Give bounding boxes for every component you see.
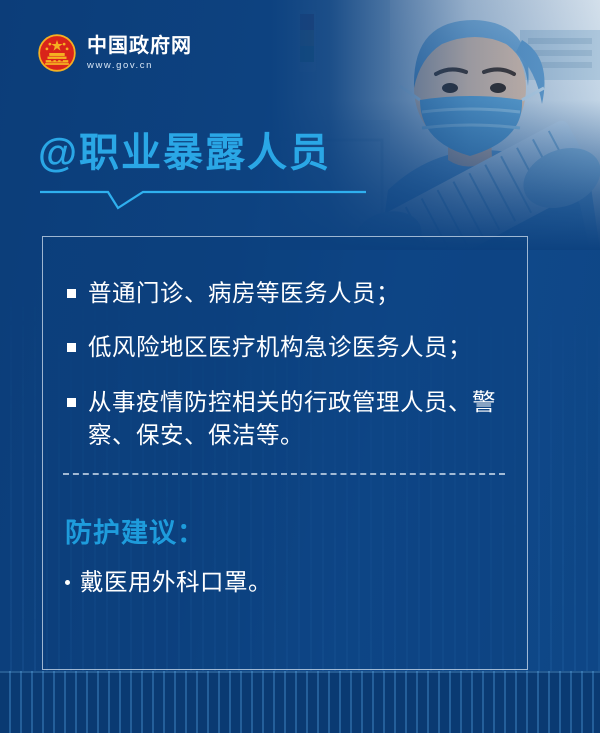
content-card: 普通门诊、病房等医务人员； 低风险地区医疗机构急诊医务人员； 从事疫情防控相关的… xyxy=(42,236,528,670)
advice-list: 戴医用外科口罩。 xyxy=(43,550,527,599)
china-national-emblem-icon xyxy=(38,34,76,72)
list-item: 低风险地区医疗机构急诊医务人员； xyxy=(67,331,501,364)
site-logo[interactable]: 中国政府网 www.gov.cn xyxy=(38,34,192,72)
title-underline-notch-icon xyxy=(38,184,368,212)
advice-heading: 防护建议： xyxy=(43,475,527,550)
exposure-group-list: 普通门诊、病房等医务人员； 低风险地区医疗机构急诊医务人员； 从事疫情防控相关的… xyxy=(43,237,527,452)
site-url: www.gov.cn xyxy=(87,61,192,71)
dot-bullet-icon xyxy=(65,580,70,585)
poster-root: 中国政府网 www.gov.cn @职业暴露人员 普通门诊、病房等医务人员； 低… xyxy=(0,0,600,733)
square-bullet-icon xyxy=(67,343,76,352)
logo-text-block: 中国政府网 www.gov.cn xyxy=(87,36,192,71)
square-bullet-icon xyxy=(67,289,76,298)
site-name-cn: 中国政府网 xyxy=(87,36,192,56)
medical-worker-photo xyxy=(270,0,600,250)
photo-overlay-fade xyxy=(270,0,600,250)
page-title-block: @职业暴露人员 xyxy=(38,132,368,212)
list-item-label: 戴医用外科口罩。 xyxy=(80,566,527,599)
list-item: 戴医用外科口罩。 xyxy=(65,566,527,599)
bottom-stripe-band xyxy=(0,671,600,733)
list-item-label: 从事疫情防控相关的行政管理人员、警察、保安、保洁等。 xyxy=(88,386,501,453)
square-bullet-icon xyxy=(67,398,76,407)
list-item: 普通门诊、病房等医务人员； xyxy=(67,277,501,310)
list-item: 从事疫情防控相关的行政管理人员、警察、保安、保洁等。 xyxy=(67,386,501,453)
list-item-label: 普通门诊、病房等医务人员； xyxy=(88,277,501,310)
list-item-label: 低风险地区医疗机构急诊医务人员； xyxy=(88,331,501,364)
page-title: @职业暴露人员 xyxy=(38,132,368,174)
